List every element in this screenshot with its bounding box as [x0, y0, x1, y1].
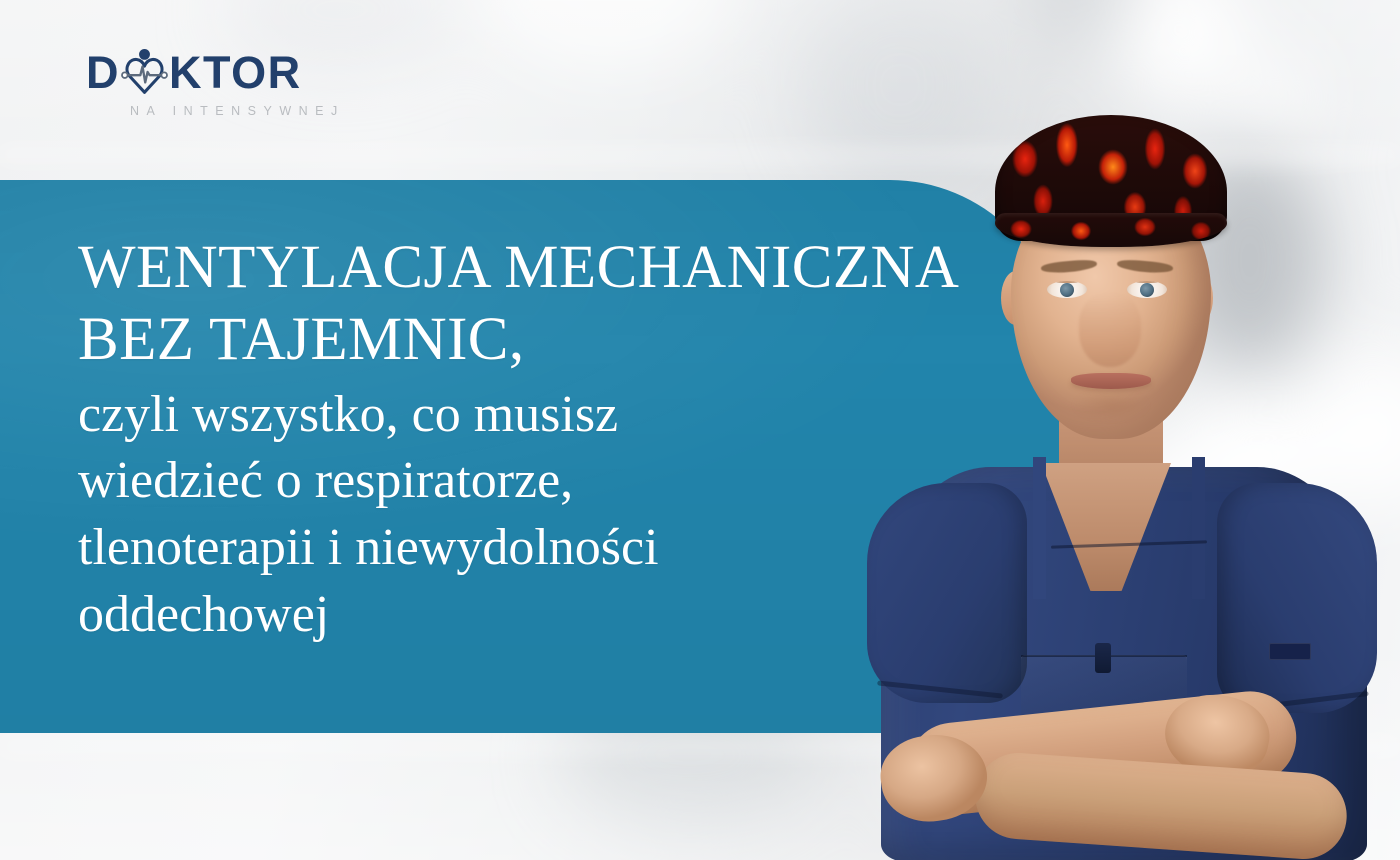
headline-line: WENTYLACJA MECHANICZNA [78, 232, 978, 304]
heart-person-ecg-icon [121, 47, 168, 97]
chin-shadow [1059, 395, 1163, 429]
iris-left [1060, 283, 1074, 297]
brand-logo[interactable]: D KTOR NA INTENSYWNEJ [86, 46, 356, 132]
nose [1079, 293, 1141, 367]
subtitle-line: oddechowej [78, 582, 978, 649]
poster-canvas: D KTOR NA INTENSYWNEJ [0, 0, 1400, 860]
pen-clip [1095, 643, 1111, 673]
headline-line: BEZ TAJEMNIC, [78, 304, 978, 376]
doctor-portrait-photo [845, 95, 1400, 860]
page-subtitle: czyli wszystko, co musisz wiedzieć o res… [78, 382, 978, 648]
page-title: WENTYLACJA MECHANICZNA BEZ TAJEMNIC, [78, 232, 978, 376]
brand-tagline: NA INTENSYWNEJ [86, 104, 356, 118]
subtitle-line: czyli wszystko, co musisz [78, 382, 978, 449]
poster-copy: WENTYLACJA MECHANICZNA BEZ TAJEMNIC, czy… [78, 232, 978, 648]
subtitle-line: wiedzieć o respiratorze, [78, 448, 978, 515]
scrubs-sleeve-right [1217, 483, 1377, 713]
sleeve-brand-tag [1269, 643, 1311, 660]
mouth-smile [1071, 373, 1151, 389]
brand-wordmark: D KTOR [86, 46, 356, 98]
iris-right [1140, 283, 1154, 297]
eye-right [1127, 281, 1167, 298]
subtitle-line: tlenoterapii i niewydolności [78, 515, 978, 582]
eye-left [1047, 281, 1087, 298]
wordmark-letter-d: D [86, 50, 120, 95]
wordmark-letters-ktor: KTOR [169, 50, 302, 95]
scrubs-sleeve-left [867, 483, 1027, 703]
